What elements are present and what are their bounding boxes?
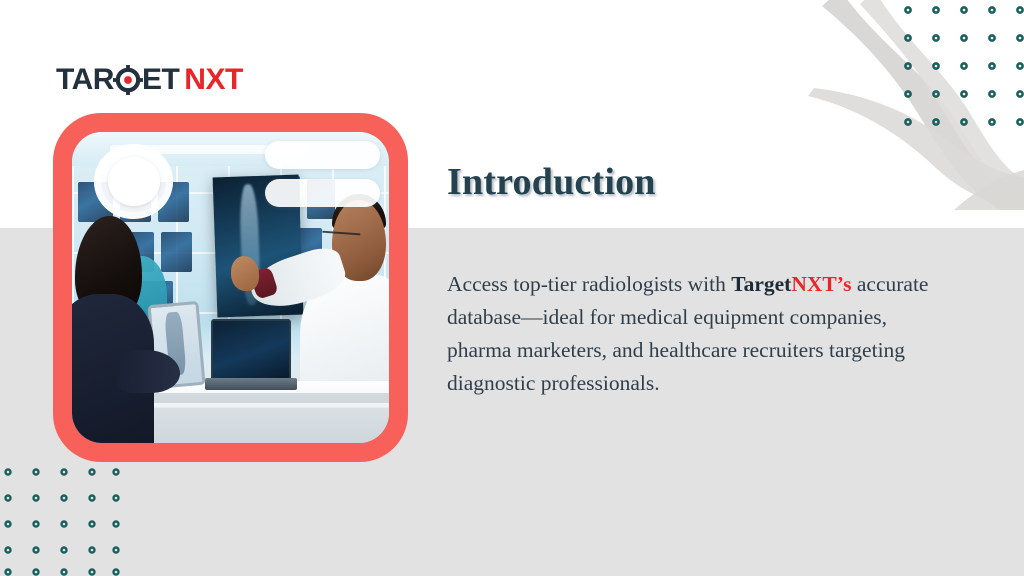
- logo-text-part2: ET: [142, 65, 179, 95]
- body-paragraph: Access top-tier radiologists with Target…: [447, 268, 947, 400]
- logo-text-part3: NXT: [184, 65, 243, 95]
- body-text-prefix: Access top-tier radiologists with: [447, 272, 731, 296]
- overlay-pill-shape: [265, 179, 379, 207]
- person-right-hand: [231, 256, 260, 290]
- target-crosshair-icon: [113, 65, 143, 95]
- slide-root: TAR ET NXT: [0, 0, 1024, 576]
- overlay-circle-shape: [94, 144, 173, 219]
- body-brand-bold: Target: [731, 272, 791, 296]
- person-left-arm: [116, 350, 179, 394]
- laptop-screen: [211, 319, 290, 381]
- radiology-photo: [72, 132, 389, 443]
- overlay-pill-shape: [265, 141, 379, 169]
- scan-panel: [161, 232, 193, 272]
- brand-logo[interactable]: TAR ET NXT: [56, 62, 243, 98]
- body-brand-accent: NXT’s: [791, 272, 851, 296]
- logo-text-part1: TAR: [56, 65, 114, 95]
- glasses-icon: [322, 230, 361, 245]
- image-card-frame: [53, 113, 408, 462]
- laptop-base: [205, 378, 297, 390]
- page-title: Introduction: [447, 160, 656, 204]
